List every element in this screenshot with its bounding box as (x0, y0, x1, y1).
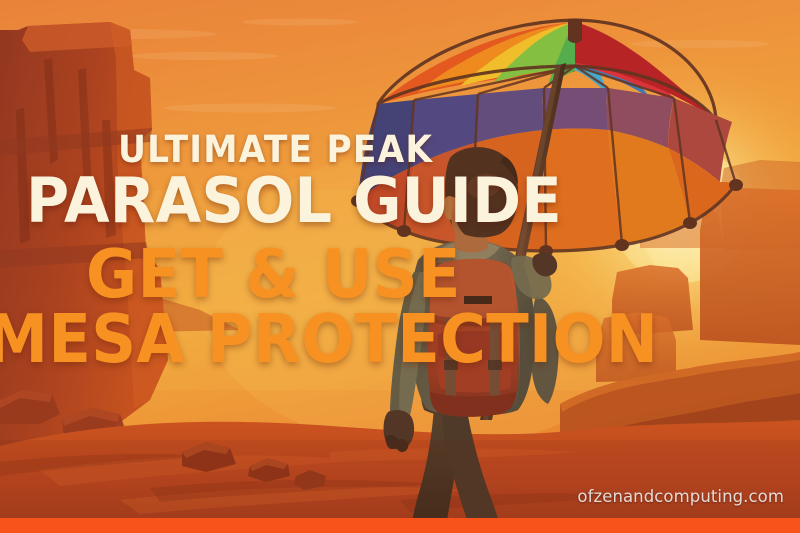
site-watermark: ofzenandcomputing.com (577, 487, 784, 506)
bottom-accent-bar (0, 518, 800, 533)
poster-canvas: ULTIMATE PEAK PARASOL GUIDE GET & USE ME… (0, 0, 800, 533)
scene-illustration (0, 0, 800, 533)
